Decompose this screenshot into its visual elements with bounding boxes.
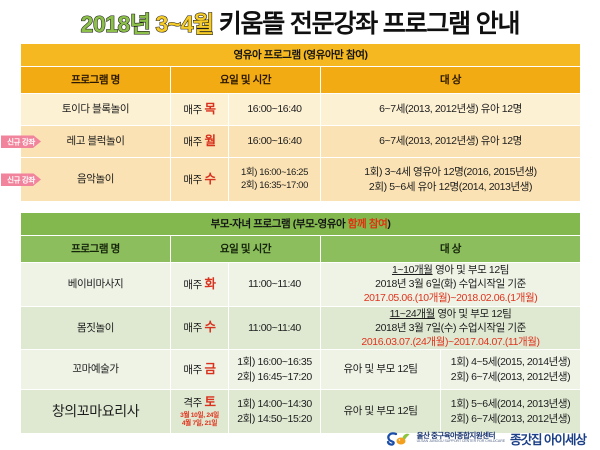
program-name-cell: 베이비마사지: [21, 263, 171, 307]
day-of-week: 목: [204, 102, 215, 116]
col-header-day-time: 요일 및 시간: [171, 236, 321, 263]
table-row: 몸짓놀이 매주 수 11:00~11:40 11~24개월 영아 및 부모 12…: [21, 306, 581, 350]
program-day-cell: 매주 금: [171, 350, 229, 390]
time-slot-2: 2회) 16:45~17:20: [229, 370, 320, 384]
new-course-badge: 신규 강좌: [1, 135, 41, 148]
section1-banner-row: 영유아 프로그램 (영유아만 참여): [21, 44, 581, 67]
program-time-cell: 1회) 14:00~14:30 2회) 14:50~15:20: [229, 390, 321, 434]
program-name-cell: 꼬마예술가: [21, 350, 171, 390]
program-time-cell: 16:00~16:40: [229, 94, 321, 126]
program-team-cell: 유아 및 부모 12팀: [321, 350, 441, 390]
day-prefix: 매주: [183, 136, 202, 148]
target-detail-1: 1회) 4~5세(2015, 2014년생): [441, 355, 580, 369]
target-line-1: 6~7세(2013, 2012년생) 유아 12명: [379, 103, 522, 115]
brand-name: 종갓집 아이세상: [510, 429, 586, 448]
table-row: 베이비마사지 매주 화 11:00~11:40 1~10개월 영아 및 부모 1…: [21, 263, 581, 307]
target-line-1: 11~24개월 영아 및 부모 12팀: [321, 307, 580, 321]
table-row: 꼬마예술가 매주 금 1회) 16:00~16:35 2회) 16:45~17:…: [21, 350, 581, 390]
program-time-cell: 16:00~16:40: [229, 126, 321, 158]
table-row: 신규 강좌 레고 블럭놀이 매주 월 16:00~16:40 6~7세(2013…: [21, 126, 581, 158]
program-target-cell: 1~10개월 영아 및 부모 12팀 2018년 3월 6일(화) 수업시작일 …: [321, 263, 581, 307]
program-name: 토이다 블록놀이: [62, 103, 129, 115]
program-name: 베이비마사지: [68, 278, 124, 290]
time-slot-1: 1회) 16:00~16:35: [229, 355, 320, 369]
target-age-range: 1~10개월: [392, 264, 433, 276]
day-of-week: 수: [204, 172, 215, 186]
program-team-cell: 유아 및 부모 12팀: [321, 390, 441, 434]
target-detail-2: 2회) 6~7세(2013, 2012년생): [441, 412, 580, 426]
table-row: 신규 강좌 음악놀이 매주 수 1회) 16:00~16:25 2회) 16:3…: [21, 158, 581, 202]
time-slot-1: 1회) 14:00~14:30: [229, 397, 320, 411]
program-name-cell: 신규 강좌 레고 블럭놀이: [21, 126, 171, 158]
center-name-en: ULSAN JUNGGU SUPPORT CENTER FOR CHILDCAR…: [417, 440, 505, 444]
new-course-badge: 신규 강좌: [1, 173, 41, 186]
program-time-cell: 11:00~11:40: [229, 263, 321, 307]
table-row: 토이다 블록놀이 매주 목 16:00~16:40 6~7세(2013, 201…: [21, 94, 581, 126]
program-day-cell: 매주 화: [171, 263, 229, 307]
target-line-1: 1회) 3~4세 영유아 12명(2016, 2015년생): [321, 165, 580, 179]
program-target-cell: 6~7세(2013, 2012년생) 유아 12명: [321, 126, 581, 158]
program-name: 창의꼬마요리사: [52, 403, 139, 419]
title-year: 2018년: [81, 5, 151, 39]
schedule-dates-note: 3월 10일, 24일 4월 7일, 21일: [171, 412, 228, 430]
program-name-cell: 신규 강좌 음악놀이: [21, 158, 171, 202]
day-prefix: 매주: [183, 364, 202, 376]
target-line-2: 2회) 5~6세 유아 12명(2014, 2013년생): [321, 180, 580, 194]
target-age-rest: 영아 및 부모 12팀: [435, 308, 512, 320]
section2-banner: 부모-자녀 프로그램 (부모-영유아 함께 참여): [21, 213, 581, 236]
day-prefix: 매주: [183, 174, 202, 186]
section2-banner-row: 부모-자녀 프로그램 (부모-영유아 함께 참여): [21, 213, 581, 236]
time-slot-1: 11:00~11:40: [248, 322, 301, 334]
center-name-ko: 울산 중구육아종합지원센터: [417, 432, 505, 440]
center-logo-icon: [386, 431, 412, 446]
target-detail-1: 1회) 5~6세(2014, 2013년생): [441, 397, 580, 411]
day-prefix: 매주: [183, 279, 202, 291]
title-month: 3~4월: [156, 5, 214, 39]
section2-banner-pre: 부모-자녀 프로그램 (부모-영유아: [211, 218, 348, 230]
day-prefix: 매주: [183, 322, 202, 334]
section2-banner-highlight: 함께 참여: [348, 218, 388, 230]
section2-column-header-row: 프로그램 명 요일 및 시간 대 상: [21, 236, 581, 263]
program-target-cell: 1회) 4~5세(2015, 2014년생) 2회) 6~7세(2013, 20…: [441, 350, 581, 390]
program-target-cell: 1회) 5~6세(2014, 2013년생) 2회) 6~7세(2013, 20…: [441, 390, 581, 434]
program-name: 레고 블럭놀이: [66, 135, 124, 147]
table-row: 창의꼬마요리사 격주 토 3월 10일, 24일 4월 7일, 21일 1회) …: [21, 390, 581, 434]
program-day-cell: 격주 토 3월 10일, 24일 4월 7일, 21일: [171, 390, 229, 434]
target-line-2: 2018년 3월 6일(화) 수업시작일 기준: [321, 277, 580, 291]
day-of-week: 금: [204, 362, 215, 376]
time-slot-1: 1회) 16:00~16:25: [229, 167, 320, 180]
program-name: 꼬마예술가: [72, 363, 118, 375]
parent-child-program-table: 부모-자녀 프로그램 (부모-영유아 함께 참여) 프로그램 명 요일 및 시간…: [20, 212, 581, 434]
day-of-week: 화: [204, 277, 215, 291]
page-title: 2018년 3~4월 키움뜰 전문강좌 프로그램 안내: [0, 0, 600, 42]
time-slot-2: 2회) 16:35~17:00: [229, 180, 320, 193]
program-day-cell: 매주 수: [171, 158, 229, 202]
day-prefix: 매주: [183, 104, 202, 116]
program-time-cell: 1회) 16:00~16:35 2회) 16:45~17:20: [229, 350, 321, 390]
section1-column-header-row: 프로그램 명 요일 및 시간 대 상: [21, 67, 581, 94]
program-name: 음악놀이: [77, 173, 114, 185]
infant-program-table: 영유아 프로그램 (영유아만 참여) 프로그램 명 요일 및 시간 대 상 토이…: [20, 43, 581, 202]
program-day-cell: 매주 월: [171, 126, 229, 158]
day-of-week: 월: [204, 134, 215, 148]
program-target-cell: 11~24개월 영아 및 부모 12팀 2018년 3월 7일(수) 수업시작일…: [321, 306, 581, 350]
program-name: 몸짓놀이: [77, 322, 114, 334]
team-count: 유아 및 부모 12팀: [344, 405, 418, 417]
center-name-block: 울산 중구육아종합지원센터 ULSAN JUNGGU SUPPORT CENTE…: [417, 432, 505, 444]
target-birthdate-range: 2017.05.06.(10개월)~2018.02.06.(1개월): [321, 291, 580, 305]
section2-banner-post: ): [387, 218, 390, 230]
program-time-cell: 1회) 16:00~16:25 2회) 16:35~17:00: [229, 158, 321, 202]
col-header-program-name: 프로그램 명: [21, 236, 171, 263]
day-of-week: 토: [204, 395, 215, 409]
program-day-cell: 매주 목: [171, 94, 229, 126]
day-prefix: 격주: [183, 397, 202, 409]
title-main: 키움뜰 전문강좌 프로그램 안내: [219, 4, 520, 40]
target-detail-2: 2회) 6~7세(2013, 2012년생): [441, 370, 580, 384]
program-time-cell: 11:00~11:40: [229, 306, 321, 350]
program-name-cell: 창의꼬마요리사: [21, 390, 171, 434]
day-of-week: 수: [204, 320, 215, 334]
time-slot-1: 11:00~11:40: [248, 278, 301, 290]
col-header-day-time: 요일 및 시간: [171, 67, 321, 94]
time-slot-1: 16:00~16:40: [247, 135, 301, 147]
program-target-cell: 6~7세(2013, 2012년생) 유아 12명: [321, 94, 581, 126]
time-slot-2: 2회) 14:50~15:20: [229, 412, 320, 426]
col-header-target: 대 상: [321, 236, 581, 263]
target-age-range: 11~24개월: [390, 308, 435, 320]
time-slot-1: 16:00~16:40: [247, 103, 301, 115]
program-day-cell: 매주 수: [171, 306, 229, 350]
target-age-rest: 영아 및 부모 12팀: [433, 264, 510, 276]
team-count: 유아 및 부모 12팀: [344, 363, 418, 375]
program-name-cell: 토이다 블록놀이: [21, 94, 171, 126]
col-header-program-name: 프로그램 명: [21, 67, 171, 94]
target-line-2: 2018년 3월 7일(수) 수업시작일 기준: [321, 321, 580, 335]
col-header-target: 대 상: [321, 67, 581, 94]
program-announcement-poster: 2018년 3~4월 키움뜰 전문강좌 프로그램 안내 영유아 프로그램 (영유…: [0, 0, 600, 450]
target-birthdate-range: 2016.03.07.(24개월)~2017.04.07.(11개월): [321, 335, 580, 349]
target-line-1: 6~7세(2013, 2012년생) 유아 12명: [379, 135, 522, 147]
target-line-1: 1~10개월 영아 및 부모 12팀: [321, 263, 580, 277]
footer: 울산 중구육아종합지원센터 ULSAN JUNGGU SUPPORT CENTE…: [0, 428, 600, 448]
program-name-cell: 몸짓놀이: [21, 306, 171, 350]
program-target-cell: 1회) 3~4세 영유아 12명(2016, 2015년생) 2회) 5~6세 …: [321, 158, 581, 202]
section1-banner: 영유아 프로그램 (영유아만 참여): [21, 44, 581, 67]
